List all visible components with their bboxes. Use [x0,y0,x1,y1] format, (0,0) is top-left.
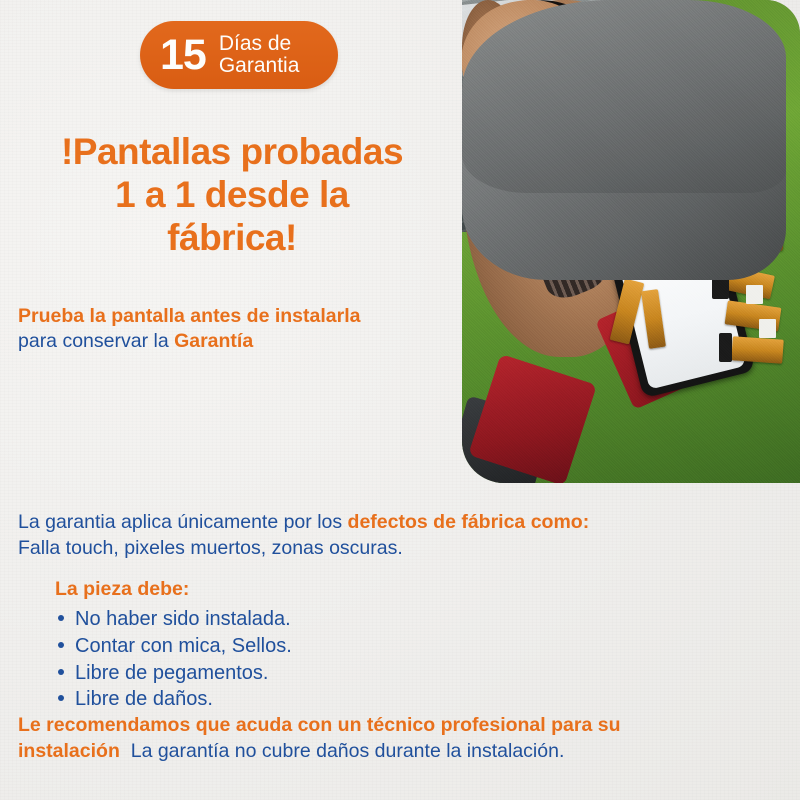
bullet-dot-icon [58,695,64,701]
list-item-label: No haber sido instalada. [75,606,291,633]
bullet-dot-icon [58,615,64,621]
list-item-label: Libre de pegamentos. [75,660,268,687]
headline-line-3: fábrica! [16,217,448,260]
list-item: Contar con mica, Sellos. [58,633,292,660]
list-item-label: Contar con mica, Sellos. [75,633,292,660]
warranty-badge: 15 Días de Garantia [140,21,338,89]
subheading-line-1: Prueba la pantalla antes de instalarla [18,304,458,328]
headline-line-2: 1 a 1 desde la [16,174,448,217]
badge-line-1: Días de [219,32,291,55]
photo-grain-overlay [462,0,800,483]
warranty-line-2: Falla touch, pixeles muertos, zonas oscu… [18,536,788,562]
list-item: Libre de daños. [58,686,292,713]
list-item-label: Libre de daños. [75,686,213,713]
bullet-dot-icon [58,642,64,648]
warranty-plain: La garantia aplica únicamente por los [18,511,348,533]
badge-text: Días de Garantia [219,33,300,78]
subheading-plain: para conservar la [18,330,174,352]
bullet-dot-icon [58,669,64,675]
page-title: !Pantallas probadas 1 a 1 desde la fábri… [16,131,448,260]
badge-line-2: Garantia [219,54,300,77]
list-item: No haber sido instalada. [58,606,292,633]
recommendation-emphasis: instalación [18,740,120,762]
requirements-list: No haber sido instalada. Contar con mica… [58,606,292,713]
subheading: Prueba la pantalla antes de instalarla p… [18,304,458,355]
badge-number: 15 [160,34,206,77]
warranty-paragraph: La garantia aplica únicamente por los de… [18,510,788,561]
warranty-emphasis: defectos de fábrica como: [348,511,590,533]
warranty-line-1: La garantia aplica únicamente por los de… [18,510,788,536]
recommendation-plain: La garantía no cubre daños durante la in… [131,740,565,762]
requirements-title: La pieza debe: [55,578,189,601]
recommendation-line-1: Le recomendamos que acuda con un técnico… [18,713,790,739]
technician-photo [462,0,800,483]
list-item: Libre de pegamentos. [58,660,292,687]
headline-line-1: !Pantallas probadas [16,131,448,174]
subheading-line-2: para conservar la Garantía [18,329,458,354]
promo-banner: 15 Días de Garantia [0,0,800,800]
subheading-emphasis: Garantía [174,330,253,352]
recommendation-line-2: instalación La garantía no cubre daños d… [18,739,790,765]
recommendation-paragraph: Le recomendamos que acuda con un técnico… [18,713,790,764]
